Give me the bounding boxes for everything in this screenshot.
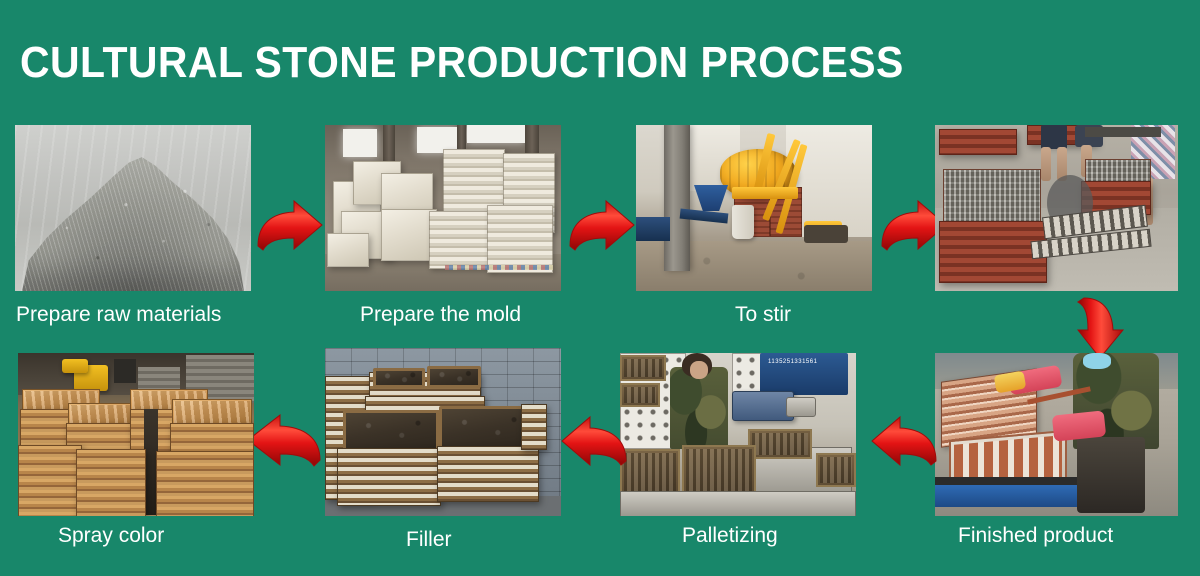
infographic-canvas: CULTURAL STONE PRODUCTION PROCESS Prepar… xyxy=(0,0,1200,576)
arrow-left-icon-6 xyxy=(560,415,628,475)
photo-finished-product[interactable] xyxy=(935,353,1178,516)
photo-prepare-the-mold[interactable] xyxy=(325,125,561,291)
photo-spray-color[interactable] xyxy=(18,353,254,516)
caption-prepare-raw-materials: Prepare raw materials xyxy=(16,303,221,327)
arrow-right-icon-1 xyxy=(256,198,324,260)
caption-prepare-the-mold: Prepare the mold xyxy=(360,303,521,327)
arrow-left-icon-7 xyxy=(246,412,322,476)
caption-spray-color: Spray color xyxy=(58,524,164,548)
photo-prepare-raw-materials[interactable] xyxy=(15,125,251,291)
page-title: CULTURAL STONE PRODUCTION PROCESS xyxy=(20,38,904,88)
banner-text: 1135251331561 xyxy=(768,359,817,365)
arrow-right-icon-2 xyxy=(568,198,636,260)
photo-to-stir[interactable] xyxy=(636,125,872,291)
caption-filler: Filler xyxy=(406,528,452,552)
photo-palletizing[interactable]: 1135251331561 xyxy=(620,353,856,516)
caption-to-stir: To stir xyxy=(735,303,791,327)
arrow-left-icon-5 xyxy=(870,415,938,475)
caption-finished-product: Finished product xyxy=(958,524,1113,548)
caption-palletizing: Palletizing xyxy=(682,524,778,548)
photo-filler[interactable] xyxy=(325,348,561,516)
arrow-down-icon-4 xyxy=(1072,296,1128,360)
photo-load-trays[interactable] xyxy=(935,125,1178,291)
